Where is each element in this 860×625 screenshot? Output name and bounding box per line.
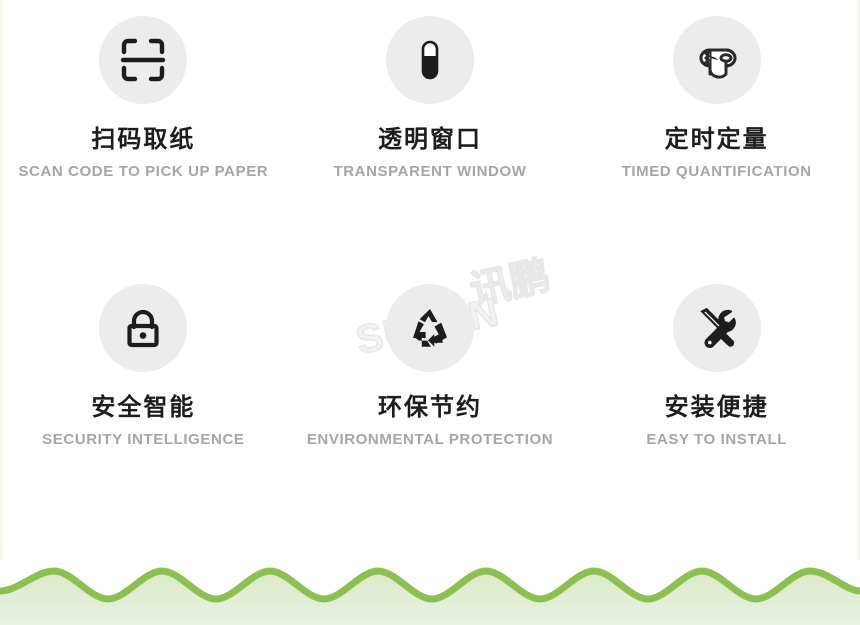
feature-title-en: ENVIRONMENTAL PROTECTION	[307, 431, 553, 448]
feature-title-cn: 透明窗口	[378, 126, 482, 154]
feature-grid-page: SUNPN 讯鹏 扫码取纸	[0, 0, 860, 625]
feature-item-security: 安全智能 SECURITY INTELLIGENCE	[0, 265, 287, 530]
recycle-icon	[407, 306, 453, 350]
features-grid: 扫码取纸 SCAN CODE TO PICK UP PAPER	[0, 0, 860, 530]
lock-icon	[121, 306, 165, 350]
tools-icon-circle	[673, 284, 761, 372]
scan-code-icon	[120, 37, 166, 83]
recycle-icon-circle	[386, 284, 474, 372]
paper-roll-icon-circle	[673, 16, 761, 104]
transparent-window-icon-circle	[386, 16, 474, 104]
bottom-wave-decoration	[0, 555, 860, 625]
feature-item-environmental: 环保节约 ENVIRONMENTAL PROTECTION	[287, 265, 574, 530]
tools-icon	[694, 305, 740, 351]
feature-title-cn: 定时定量	[665, 126, 769, 154]
feature-item-scan-code: 扫码取纸 SCAN CODE TO PICK UP PAPER	[0, 0, 287, 265]
feature-title-en: TIMED QUANTIFICATION	[622, 163, 812, 180]
paper-roll-icon	[693, 36, 741, 84]
feature-title-cn: 环保节约	[378, 394, 482, 422]
feature-title-en: EASY TO INSTALL	[646, 431, 787, 448]
feature-item-easy-install: 安装便捷 EASY TO INSTALL	[573, 265, 860, 530]
feature-title-cn: 安装便捷	[665, 394, 769, 422]
feature-title-en: SECURITY INTELLIGENCE	[42, 431, 244, 448]
transparent-window-icon	[407, 37, 453, 83]
feature-title-cn: 扫码取纸	[91, 126, 195, 154]
feature-title-en: TRANSPARENT WINDOW	[333, 163, 526, 180]
feature-title-en: SCAN CODE TO PICK UP PAPER	[18, 163, 268, 180]
feature-item-timed-quantification: 定时定量 TIMED QUANTIFICATION	[573, 0, 860, 265]
lock-icon-circle	[99, 284, 187, 372]
feature-title-cn: 安全智能	[91, 394, 195, 422]
scan-code-icon-circle	[99, 16, 187, 104]
feature-item-transparent-window: 透明窗口 TRANSPARENT WINDOW	[287, 0, 574, 265]
